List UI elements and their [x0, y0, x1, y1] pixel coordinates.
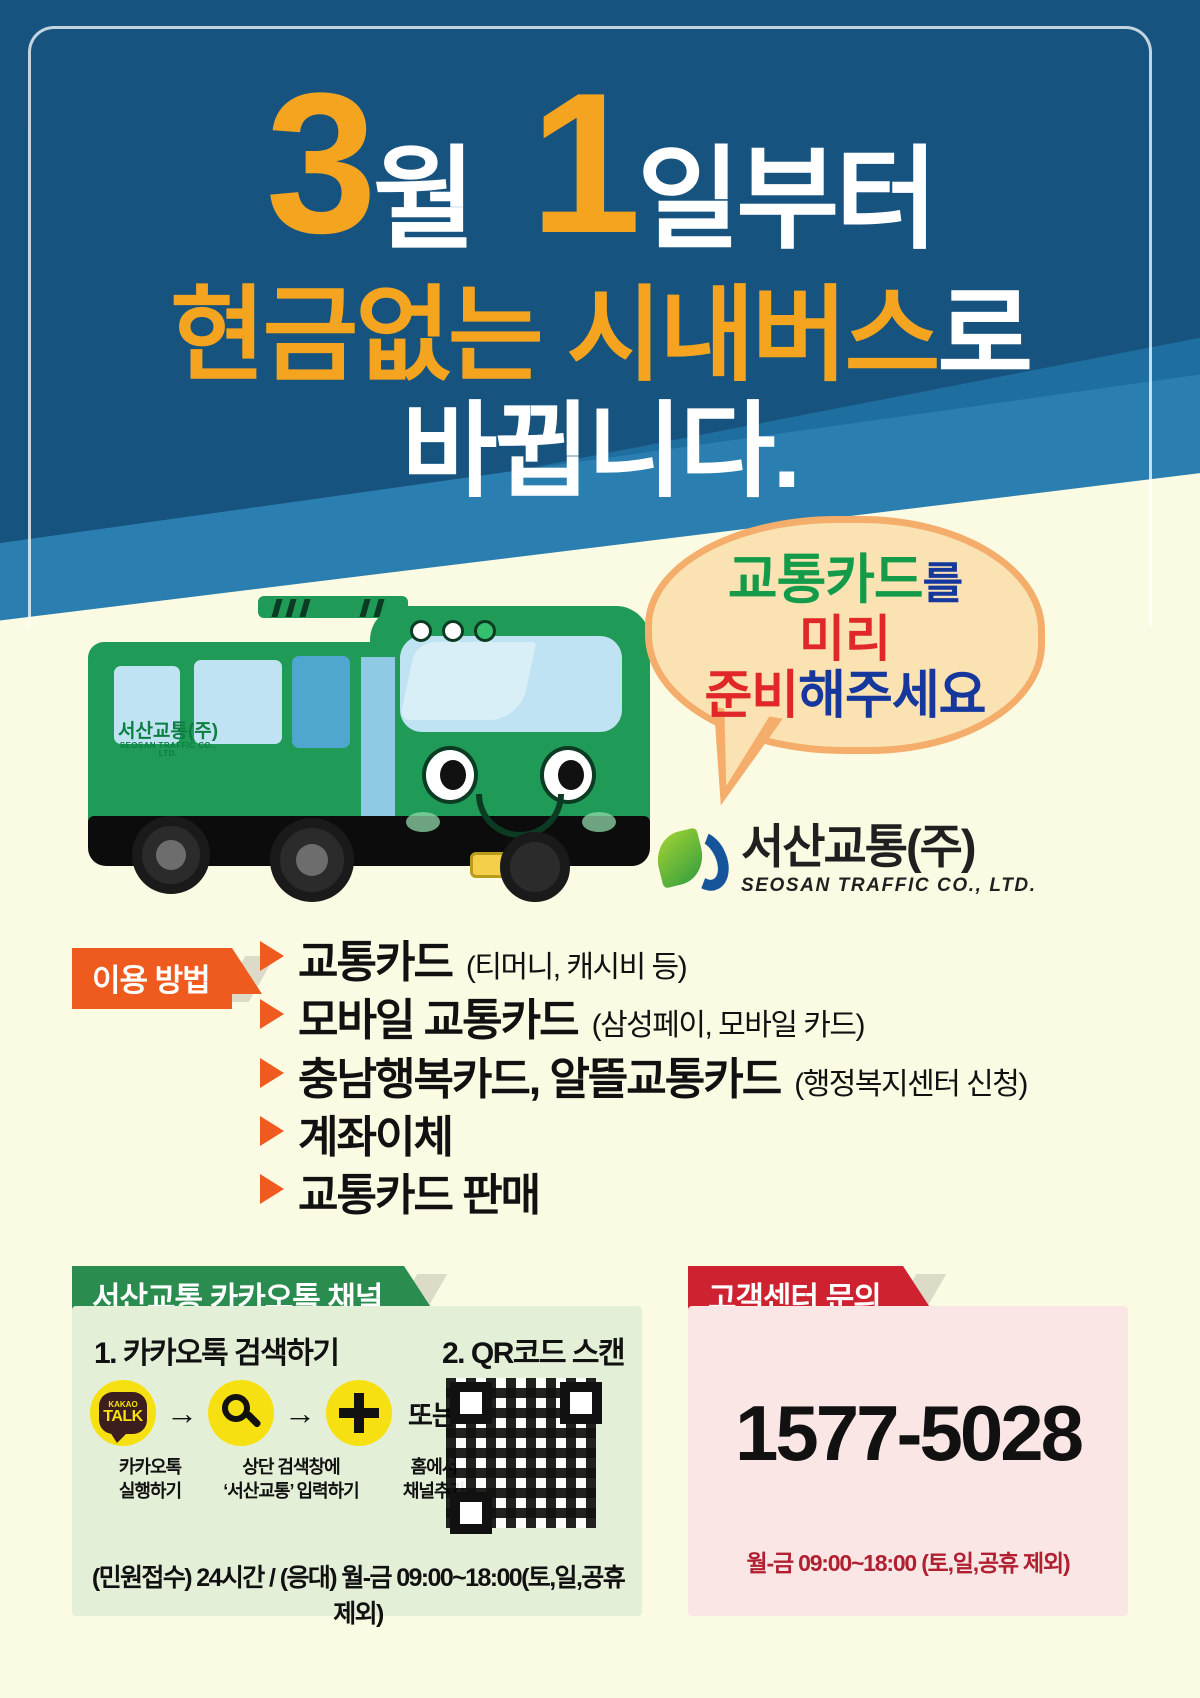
qr-finder-pattern [450, 1492, 492, 1534]
plus-shape [339, 1393, 379, 1433]
search-icon[interactable] [208, 1380, 274, 1446]
bubble-line1-blue: 를 [923, 559, 962, 608]
kakao-step-captions: 카카오톡 실행하기 상단 검색창에 ‘서산교통’ 입력하기 홈에서 채널추가 [90, 1456, 494, 1504]
company-logo-mark-icon [655, 824, 727, 896]
qr-finder-pattern [450, 1382, 492, 1424]
usage-item-main: 모바일 교통카드 [298, 996, 578, 1045]
bus-lamp-icon [442, 620, 464, 642]
arrow-right-icon: → [284, 1397, 316, 1429]
headline-line-3: 바뀝니다. [0, 396, 1200, 508]
arrow-right-icon: → [166, 1397, 198, 1429]
bus-door [356, 652, 400, 828]
bottom-panels: 서산교통 카카오톡 채널 1. 카카오톡 검색하기 2. QR코드 스캔 KAK… [0, 1262, 1200, 1674]
bus-windshield-gloss [400, 642, 537, 720]
usage-item-main: 교통카드 [298, 938, 452, 987]
bus-pupil-left [440, 760, 466, 790]
bubble-line3-blue: 해주세요 [798, 667, 985, 725]
usage-list-item: 교통카드 판매 [260, 1171, 1140, 1220]
magnifier-shape [222, 1394, 260, 1432]
usage-list-item: 계좌이체 [260, 1113, 1140, 1162]
bus-wheel [500, 832, 570, 902]
kakao-caption-2: 상단 검색창에 ‘서산교통’ 입력하기 [202, 1456, 380, 1504]
kakao-hours: (민원접수) 24시간 / (응대) 월-금 09:00~18:00(토,일,공… [88, 1558, 628, 1630]
usage-tag-wrapper: 이용 방법 [72, 948, 232, 1009]
triangle-bullet-icon [260, 1116, 284, 1146]
call-center-phone[interactable]: 1577-5028 [688, 1394, 1128, 1472]
triangle-bullet-icon [260, 999, 284, 1029]
bus-side-logo-kr: 서산교통(주) [118, 721, 218, 742]
bubble-line3-red: 준비 [704, 667, 798, 725]
kakao-caption-1-line1: 카카오톡 [90, 1456, 210, 1480]
call-center-hours: 월-금 09:00~18:00 (토,일,공휴 제외) [688, 1544, 1128, 1578]
usage-item-sub: (행정복지센터 신청) [794, 1068, 1027, 1102]
call-center-panel: 1577-5028 월-금 09:00~18:00 (토,일,공휴 제외) [688, 1306, 1128, 1616]
kakao-step-icons: KAKAO TALK → → 또는 [90, 1380, 456, 1446]
bubble-line-3: 준비해주세요 [704, 667, 985, 725]
usage-item-sub: (삼성페이, 모바일 카드) [592, 1009, 864, 1043]
kakao-panel-inner: 1. 카카오톡 검색하기 2. QR코드 스캔 KAKAO TALK → [72, 1306, 642, 1616]
speech-bubble: 교통카드를 미리 준비해주세요 [645, 516, 1045, 754]
kakao-caption-2-line1: 상단 검색창에 [202, 1456, 380, 1480]
bus-window [292, 656, 350, 748]
usage-list: 교통카드(티머니, 캐시비 등) 모바일 교통카드(삼성페이, 모바일 카드) … [260, 938, 1140, 1229]
bus-lamp-icon [410, 620, 432, 642]
bubble-line-1: 교통카드를 [728, 551, 962, 610]
usage-tag-label: 이용 방법 [72, 948, 232, 1009]
usage-item-main: 교통카드 판매 [298, 1171, 539, 1220]
company-logo-text: 서산교통(주) SEOSAN TRAFFIC CO., LTD. [741, 823, 1037, 897]
triangle-bullet-icon [260, 1174, 284, 1204]
talk-word: TALK [103, 1409, 142, 1425]
usage-list-item: 충남행복카드, 알뜰교통카드(행정복지센터 신청) [260, 1055, 1140, 1104]
bus-illustration: 서산교통(주) SEOSAN TRAFFIC CO., LTD. [70, 580, 690, 920]
bus-blush-right [582, 812, 616, 832]
headline-line-2: 현금없는 시내버스로 [0, 280, 1200, 392]
usage-list-item: 교통카드(티머니, 캐시비 등) [260, 938, 1140, 987]
headline-month-number: 3 [266, 52, 373, 275]
kakaotalk-icon[interactable]: KAKAO TALK [90, 1380, 156, 1446]
headline-day-label: 일부터 [637, 137, 934, 262]
bus-wheel-hub [296, 844, 328, 876]
bus-wheel-hub [156, 840, 186, 870]
plus-icon[interactable] [326, 1380, 392, 1446]
magnifier-handle [244, 1411, 262, 1429]
company-name-en: SEOSAN TRAFFIC CO., LTD. [741, 875, 1037, 897]
headline-line2-white: 로 [937, 278, 1030, 394]
headline-block: 3월1일부터 현금없는 시내버스로 바뀝니다. [0, 0, 1200, 509]
kakaotalk-bubble-shape: KAKAO TALK [99, 1392, 147, 1434]
qr-finder-pattern [560, 1382, 602, 1424]
triangle-bullet-icon [260, 1058, 284, 1088]
bus-pupil-right [558, 760, 584, 790]
poster-root: 3월1일부터 현금없는 시내버스로 바뀝니다. [0, 0, 1200, 1698]
kakao-panel: 1. 카카오톡 검색하기 2. QR코드 스캔 KAKAO TALK → [72, 1306, 642, 1616]
kakao-caption-1-line2: 실행하기 [90, 1480, 210, 1504]
bus-lamp-icon [474, 620, 496, 642]
usage-item-main: 충남행복카드, 알뜰교통카드 [298, 1055, 780, 1104]
headline-day-number: 1 [530, 52, 637, 275]
headline-month-label: 월 [373, 137, 472, 262]
speech-bubble-text: 교통카드를 미리 준비해주세요 [645, 516, 1045, 754]
kakao-caption-2-line2: ‘서산교통’ 입력하기 [202, 1480, 380, 1504]
headline-line-date: 3월1일부터 [0, 64, 1200, 264]
bus-side-logo-en: SEOSAN TRAFFIC CO., LTD. [114, 742, 222, 759]
usage-list-item: 모바일 교통카드(삼성페이, 모바일 카드) [260, 996, 1140, 1045]
triangle-bullet-icon [260, 941, 284, 971]
bubble-line-2: 미리 [799, 611, 891, 667]
company-name-kr: 서산교통(주) [741, 823, 1037, 870]
bus-side-logo: 서산교통(주) SEOSAN TRAFFIC CO., LTD. [114, 722, 222, 756]
bus-blush-left [406, 812, 440, 832]
kakao-step1-heading: 1. 카카오톡 검색하기 [94, 1328, 339, 1372]
bubble-line1-green: 교통카드 [728, 550, 923, 610]
company-logo: 서산교통(주) SEOSAN TRAFFIC CO., LTD. [655, 812, 1075, 908]
usage-item-main: 계좌이체 [298, 1113, 452, 1162]
usage-item-sub: (티머니, 캐시비 등) [466, 951, 686, 985]
kakao-caption-1: 카카오톡 실행하기 [90, 1456, 210, 1504]
kakao-step2-heading: 2. QR코드 스캔 [442, 1328, 624, 1372]
headline-line2-orange: 현금없는 시내버스 [170, 278, 937, 394]
